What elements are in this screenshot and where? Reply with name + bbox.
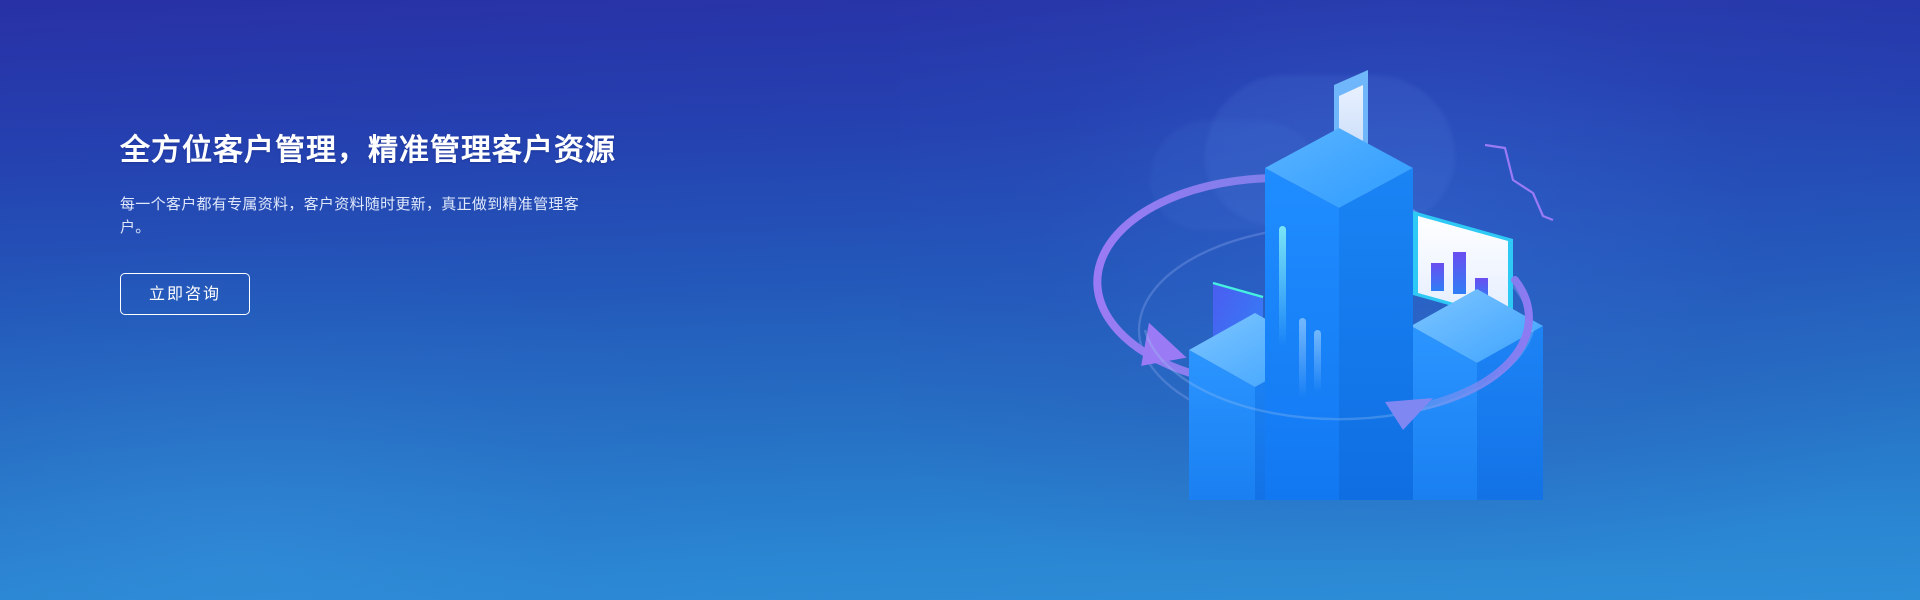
- hero-illustration: [1085, 30, 1565, 500]
- hero-copy: 全方位客户管理，精准管理客户资源 每一个客户都有专属资料，客户资料随时更新，真正…: [120, 131, 740, 315]
- hero-banner: 全方位客户管理，精准管理客户资源 每一个客户都有专属资料，客户资料随时更新，真正…: [0, 0, 1920, 600]
- pillar-center-group: [1265, 70, 1413, 500]
- page-title: 全方位客户管理，精准管理客户资源: [120, 131, 740, 171]
- hero-subtext: 每一个客户都有专属资料，客户资料随时更新，真正做到精准管理客户。: [120, 193, 602, 239]
- consult-now-button[interactable]: 立即咨询: [120, 273, 250, 315]
